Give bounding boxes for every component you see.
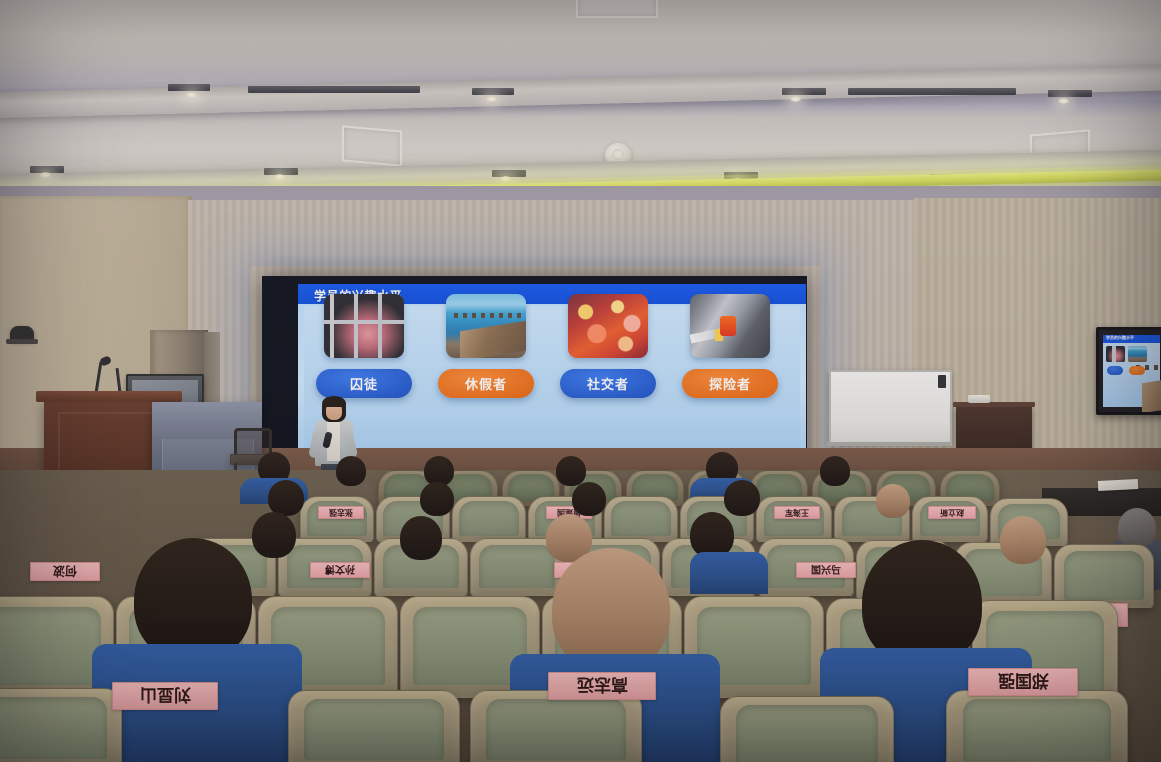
ceiling-downlight — [790, 96, 801, 102]
name-placard-text: 何波 — [53, 563, 77, 580]
seat-cushion — [304, 699, 443, 760]
attendee-hair — [1118, 508, 1156, 548]
slide-card: 社交者 — [556, 294, 660, 436]
ceiling-downlight — [274, 174, 285, 180]
ceiling-vent-left — [342, 125, 402, 166]
seat-cushion — [0, 697, 107, 759]
attendee-hair — [820, 456, 850, 486]
presenter-hair-front — [322, 397, 346, 407]
name-placard: 赵立新 — [928, 506, 976, 519]
attendee-head — [876, 484, 910, 518]
attendee-head — [724, 480, 760, 516]
wall-monitor: 学员的兴趣水平 — [1096, 327, 1161, 415]
name-placard: 郑国强 — [968, 668, 1078, 696]
seat-cushion — [486, 699, 625, 760]
seat[interactable] — [300, 496, 374, 542]
seat[interactable] — [946, 690, 1128, 762]
seat[interactable] — [756, 496, 832, 542]
name-placard-text: 孙文博 — [325, 563, 355, 578]
seat-cushion — [611, 501, 670, 535]
seat-cushion — [0, 607, 101, 685]
wall-monitor-title: 学员的兴趣水平 — [1106, 335, 1134, 341]
seat[interactable] — [0, 688, 122, 762]
name-placard-text: 赵立新 — [940, 507, 964, 518]
social-party-photo — [568, 294, 648, 358]
attendee-head — [1118, 508, 1156, 548]
seat-cushion — [459, 501, 518, 535]
paper-document — [1098, 479, 1138, 491]
name-placard-text: 王海军 — [785, 507, 809, 518]
seat-cushion — [1064, 551, 1144, 599]
card-label-pill: 探险者 — [682, 369, 778, 398]
attendee-head — [556, 456, 586, 486]
mountain-climber-photo — [690, 294, 770, 358]
ceiling-slot — [472, 88, 514, 95]
seat-cushion — [479, 545, 554, 589]
podium-top — [36, 391, 182, 402]
wall-monitor-pills — [1107, 366, 1145, 375]
name-placard-text: 张志强 — [329, 507, 353, 518]
ceiling-downlight — [1058, 98, 1069, 104]
attendee-head — [420, 482, 454, 516]
presentation-slide: 学员的兴趣水平 囚徒 休假者 社交者 探险者 — [298, 284, 806, 466]
seat[interactable] — [288, 690, 460, 762]
lecture-hall-photo: 学员的兴趣水平 囚徒 休假者 社交者 探险者 学员的兴趣水平 — [0, 0, 1161, 762]
card-label-pill: 囚徒 — [316, 369, 412, 398]
name-placard-text: 高志远 — [577, 674, 628, 699]
attendee-head — [572, 482, 606, 516]
seat-cushion — [963, 699, 1111, 761]
card-label-pill: 社交者 — [560, 369, 656, 398]
seat[interactable] — [604, 496, 678, 542]
name-placard: 何波 — [30, 562, 100, 581]
ceiling-downlight — [486, 96, 497, 102]
attendee-head — [820, 456, 850, 486]
ceiling-slot — [848, 88, 1016, 95]
prison-bars-thumb — [1106, 346, 1125, 362]
card-label-pill-mini — [1107, 366, 1123, 375]
ceiling-slot — [248, 86, 420, 93]
attendee-hair — [572, 482, 606, 516]
ceiling-downlight — [186, 92, 197, 98]
whiteboard-surface — [829, 370, 952, 446]
seat[interactable] — [1054, 544, 1154, 608]
attendee-head — [400, 516, 442, 560]
prison-bars-photo — [324, 294, 404, 358]
slide-card: 休假者 — [434, 294, 538, 436]
attendee-hair — [556, 456, 586, 486]
attendee-shoulders — [690, 552, 768, 594]
name-placard-text: 刘显山 — [140, 684, 191, 709]
card-label-pill-mini — [1129, 366, 1145, 375]
wall-monitor-thumbs — [1106, 346, 1147, 362]
name-placard: 高志远 — [548, 672, 656, 700]
tropical-beach-photo — [446, 294, 526, 358]
slide-card: 探险者 — [678, 294, 782, 436]
ceiling — [0, 0, 1161, 196]
name-placard-text: 马兴国 — [811, 563, 841, 578]
seat[interactable] — [720, 696, 894, 762]
name-placard: 刘显山 — [112, 682, 218, 710]
attendee-hair — [724, 480, 760, 516]
attendee-hair — [336, 456, 366, 486]
name-placard: 孙文博 — [310, 562, 370, 578]
whiteboard-tray — [827, 442, 950, 446]
attendee-hair — [1000, 516, 1046, 564]
surveillance-camera-icon — [10, 326, 34, 341]
attendee-head — [268, 480, 304, 516]
slide-card-row: 囚徒 休假者 社交者 探险者 — [312, 294, 782, 436]
wall-monitor-slide: 学员的兴趣水平 — [1103, 335, 1160, 407]
whiteboard-clip — [938, 375, 946, 388]
attendee-head — [252, 512, 296, 558]
seat[interactable] — [470, 690, 642, 762]
card-label-pill: 休假者 — [438, 369, 534, 398]
attendee-head — [336, 456, 366, 486]
attendee-head — [1000, 516, 1046, 564]
tropical-beach-thumb — [1128, 346, 1147, 362]
attendee-hair — [268, 480, 304, 516]
name-placard: 王海军 — [774, 506, 820, 519]
ceiling-vent-top — [576, 0, 658, 18]
attendee-hair — [252, 512, 296, 558]
name-placard: 张志强 — [318, 506, 364, 519]
cabinet-top — [953, 402, 1035, 407]
seat[interactable] — [452, 496, 526, 542]
name-placard: 马兴国 — [796, 562, 856, 578]
cabinet-item — [968, 395, 990, 403]
ceiling-slot — [1048, 90, 1092, 97]
attendee-hair — [876, 484, 910, 518]
seat[interactable] — [912, 496, 988, 542]
name-placard-text: 郑国强 — [998, 670, 1049, 695]
ceiling-slot — [168, 84, 210, 91]
attendee-hair — [400, 516, 442, 560]
seat-cushion — [736, 705, 877, 762]
ceiling-downlight — [40, 172, 51, 178]
ceiling-slot — [782, 88, 826, 95]
attendee-hair — [420, 482, 454, 516]
